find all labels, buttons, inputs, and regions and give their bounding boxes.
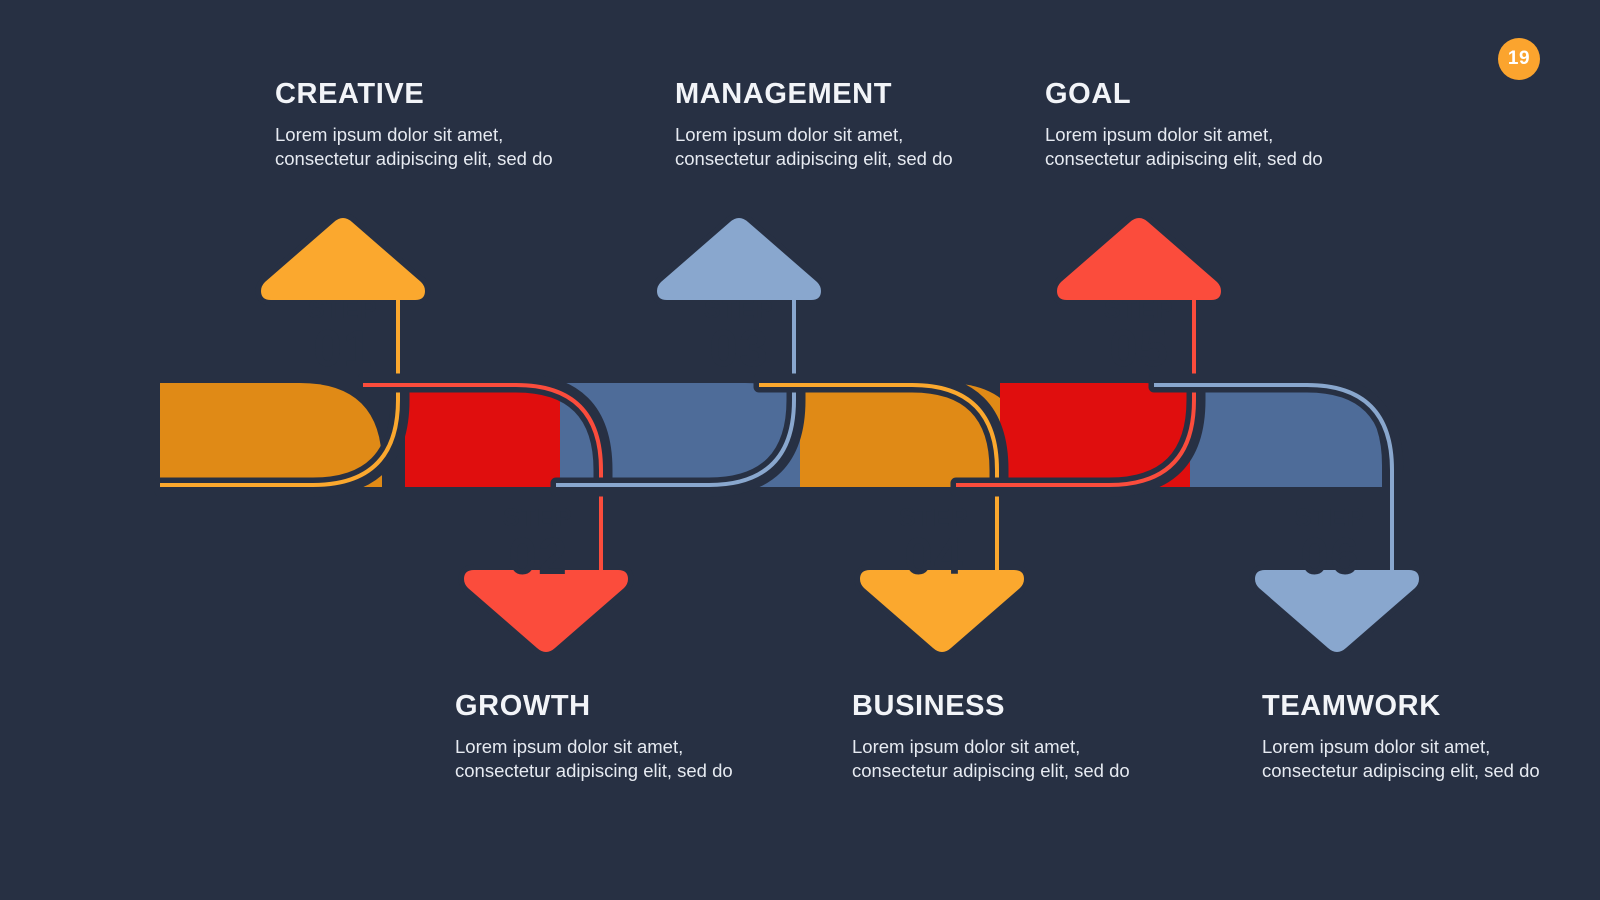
label-body-growth: Lorem ipsum dolor sit amet, consectetur … — [455, 735, 755, 782]
label-block-business: BUSINESS Lorem ipsum dolor sit amet, con… — [852, 690, 1152, 782]
infographic-canvas: STEP 01 STEP 02 STEP 03 STEP 04 — [0, 0, 1600, 900]
label-title-growth: GROWTH — [455, 690, 755, 723]
step-arrow-01-number: 01 — [313, 320, 373, 378]
step-arrow-05-number: 05 — [1109, 320, 1169, 378]
step-arrow-03-number: 03 — [709, 320, 769, 378]
step-arrow-06-number: 06 — [1300, 528, 1360, 586]
step-arrow-04-number: 04 — [904, 528, 964, 586]
label-body-teamwork: Lorem ipsum dolor sit amet, consectetur … — [1262, 735, 1562, 782]
label-title-creative: CREATIVE — [275, 78, 575, 111]
label-body-business: Lorem ipsum dolor sit amet, consectetur … — [852, 735, 1152, 782]
label-block-management: MANAGEMENT Lorem ipsum dolor sit amet, c… — [675, 78, 975, 170]
label-body-goal: Lorem ipsum dolor sit amet, consectetur … — [1045, 123, 1345, 170]
label-title-goal: GOAL — [1045, 78, 1345, 111]
label-body-management: Lorem ipsum dolor sit amet, consectetur … — [675, 123, 975, 170]
label-body-creative: Lorem ipsum dolor sit amet, consectetur … — [275, 123, 575, 170]
label-block-goal: GOAL Lorem ipsum dolor sit amet, consect… — [1045, 78, 1345, 170]
step-arrow-02-number: 02 — [508, 528, 568, 586]
label-title-teamwork: TEAMWORK — [1262, 690, 1562, 723]
ribbon-segment-orange-1 — [160, 383, 382, 487]
page-number-badge: 19 — [1498, 38, 1540, 80]
label-block-teamwork: TEAMWORK Lorem ipsum dolor sit amet, con… — [1262, 690, 1562, 782]
label-title-management: MANAGEMENT — [675, 78, 975, 111]
label-title-business: BUSINESS — [852, 690, 1152, 723]
label-block-creative: CREATIVE Lorem ipsum dolor sit amet, con… — [275, 78, 575, 170]
label-block-growth: GROWTH Lorem ipsum dolor sit amet, conse… — [455, 690, 755, 782]
